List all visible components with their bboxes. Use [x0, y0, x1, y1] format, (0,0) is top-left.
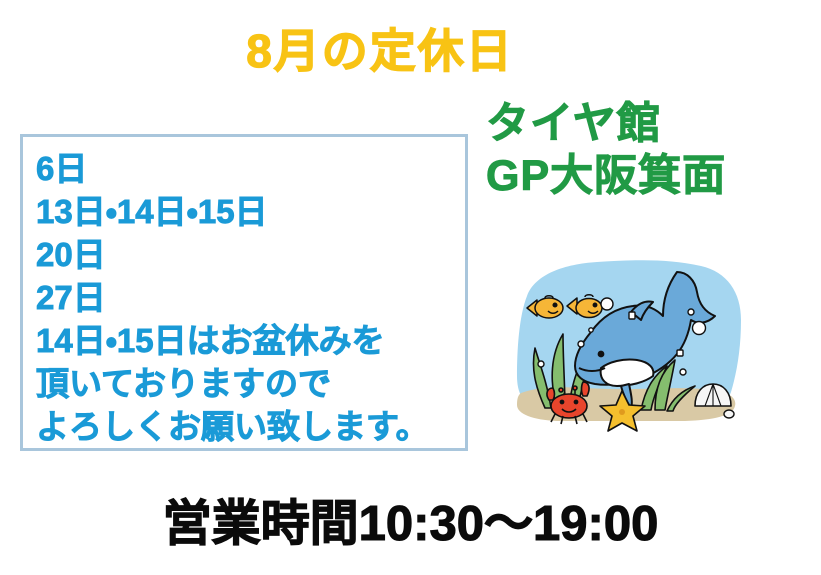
shop-name-line-2: GP大阪箕面 — [486, 150, 816, 202]
poster-canvas: 8月の定休日 タイヤ館 GP大阪箕面 6日 13日・14日・15日 20日 27… — [0, 0, 821, 575]
closed-days-list: 6日 13日・14日・15日 20日 27日 14日・15日はお盆休みを 頂いて… — [36, 147, 429, 448]
closed-days-line: 14日・15日はお盆休みを — [36, 319, 429, 362]
closed-days-line: 頂いておりますので — [36, 362, 429, 405]
closed-days-line: 13日・14日・15日 — [36, 190, 429, 233]
shop-name: タイヤ館 GP大阪箕面 — [486, 98, 816, 203]
page-title: 8月の定休日 — [0, 26, 760, 78]
business-hours: 営業時間10:30〜19:00 — [0, 484, 821, 555]
closed-days-line: 6日 — [36, 147, 429, 190]
closed-days-line: 20日 — [36, 233, 429, 276]
closed-days-line: 27日 — [36, 276, 429, 319]
closed-days-line: よろしくお願い致します。 — [36, 405, 429, 448]
underwater-dolphin-scene-icon — [505, 250, 755, 440]
dolphin-eye — [599, 352, 604, 357]
closed-days-box: 6日 13日・14日・15日 20日 27日 14日・15日はお盆休みを 頂いて… — [20, 134, 468, 451]
shop-name-line-1: タイヤ館 — [486, 98, 816, 150]
